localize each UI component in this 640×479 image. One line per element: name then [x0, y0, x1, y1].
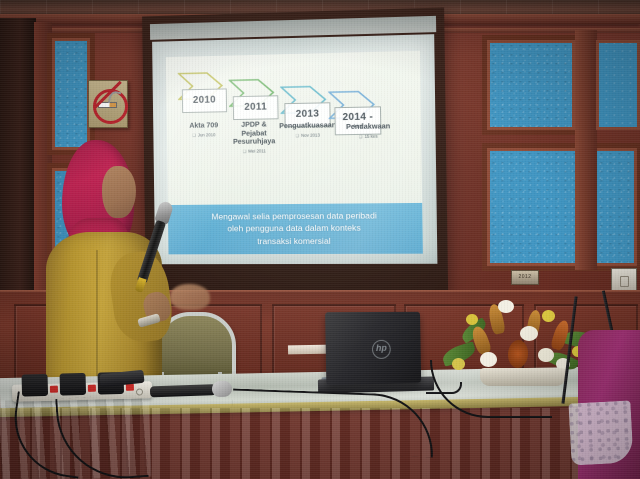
- slide-banner-line-1: Mengawal selia pemprosesan data peribadi: [211, 210, 376, 223]
- wall-panel-right-upper: [487, 40, 575, 130]
- flower-white: [498, 300, 514, 313]
- flower-yellow: [542, 310, 555, 322]
- timeline-label-3: Penguatkuasaan Nov 2013: [275, 121, 341, 139]
- power-switch[interactable]: [88, 385, 96, 392]
- wall-panel-far-right: [596, 40, 640, 130]
- timeline-year-3: 2013: [296, 109, 320, 119]
- power-plug[interactable]: [60, 373, 87, 396]
- timeline-year-box-2: 2011: [233, 95, 279, 120]
- timeline-label-4: Pendakwaan 15 kes: [337, 122, 400, 140]
- microphone-handle: [150, 384, 216, 397]
- slide-banner-line-3: transaksi komersial: [257, 236, 330, 248]
- seated-attendee: [578, 330, 640, 479]
- hp-logo-icon: hp: [372, 340, 391, 359]
- power-switch[interactable]: [50, 386, 58, 393]
- presenter-gesturing-hand: [170, 284, 210, 310]
- presenter-face: [102, 166, 136, 218]
- no-smoking-sign: [88, 80, 128, 128]
- laptop-lid: hp: [325, 312, 421, 386]
- power-switch[interactable]: [126, 384, 134, 391]
- wall-panel-right-lower: [487, 148, 637, 266]
- wall-panel-divider: [575, 30, 597, 270]
- timeline-year-1: 2010: [193, 96, 216, 106]
- timeline-label-3-title: Penguatkuasaan: [275, 121, 341, 131]
- wireless-microphone-on-table[interactable]: [150, 382, 232, 399]
- timeline-label-3-date: Nov 2013: [275, 132, 341, 139]
- left-doorway: [0, 18, 36, 310]
- flower-yellow: [466, 314, 478, 325]
- hp-laptop[interactable]: hp: [318, 312, 430, 396]
- slide-banner-line-2: oleh pengguna data dalam konteks: [227, 223, 361, 235]
- wall-plaque: 2012: [511, 270, 539, 285]
- photo-scene: 2012 2010: [0, 0, 640, 479]
- timeline-year-box-1: 2010: [182, 88, 227, 113]
- timeline-label-2-date: Mei 2011: [224, 148, 285, 155]
- presenter: [40, 140, 210, 402]
- attendee-lace-shawl: [568, 400, 633, 465]
- timeline-label-4-title: Pendakwaan: [337, 122, 400, 132]
- microphone-grille: [212, 381, 233, 398]
- flower-white: [520, 326, 538, 341]
- timeline-label-4-count: 15 kes: [337, 133, 400, 140]
- wall-panel-left-upper: [52, 38, 90, 150]
- timeline-year-2: 2011: [244, 103, 267, 113]
